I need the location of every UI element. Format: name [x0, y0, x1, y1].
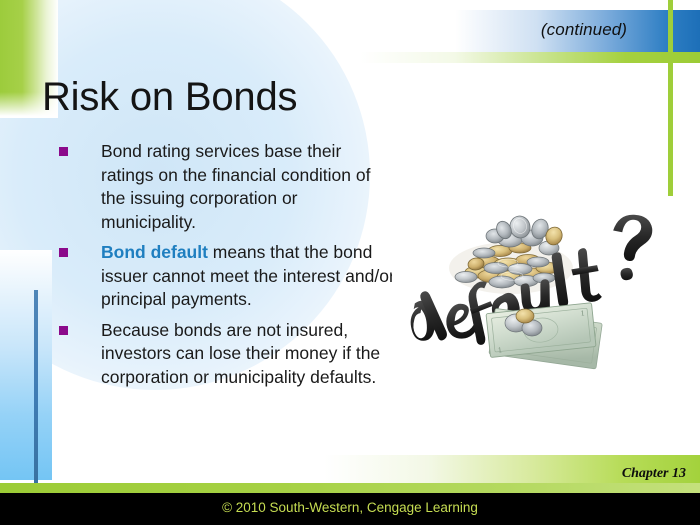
decor-green-band-top-right [360, 52, 700, 63]
bullet-list: Bond rating services base their ratings … [56, 140, 396, 396]
decor-blue-panel-left [0, 250, 52, 480]
list-item: Because bonds are not insured, investors… [56, 319, 396, 390]
page-title: Risk on Bonds [42, 75, 297, 120]
decor-green-vertical-line [668, 0, 673, 212]
footer-green-rule [0, 483, 700, 493]
copyright-notice: © 2010 South-Western, Cengage Learning [0, 500, 700, 515]
square-bullet-icon [59, 248, 68, 257]
list-item-text: Because bonds are not insured, investors… [101, 320, 380, 387]
square-bullet-icon [59, 326, 68, 335]
list-item-keyword: Bond default [101, 242, 208, 262]
slide-canvas: (continued) Risk on Bonds Bond rating se… [0, 0, 700, 525]
chapter-label: Chapter 13 [622, 466, 686, 482]
list-item: Bond rating services base their ratings … [56, 140, 396, 234]
decor-blue-vertical-line [34, 290, 38, 490]
square-bullet-icon [59, 147, 68, 156]
default-illustration: 1 1 [392, 196, 680, 378]
list-item-text: Bond rating services base their ratings … [101, 141, 370, 232]
continued-label: (continued) [508, 20, 660, 40]
list-item: Bond default means that the bond issuer … [56, 241, 396, 312]
